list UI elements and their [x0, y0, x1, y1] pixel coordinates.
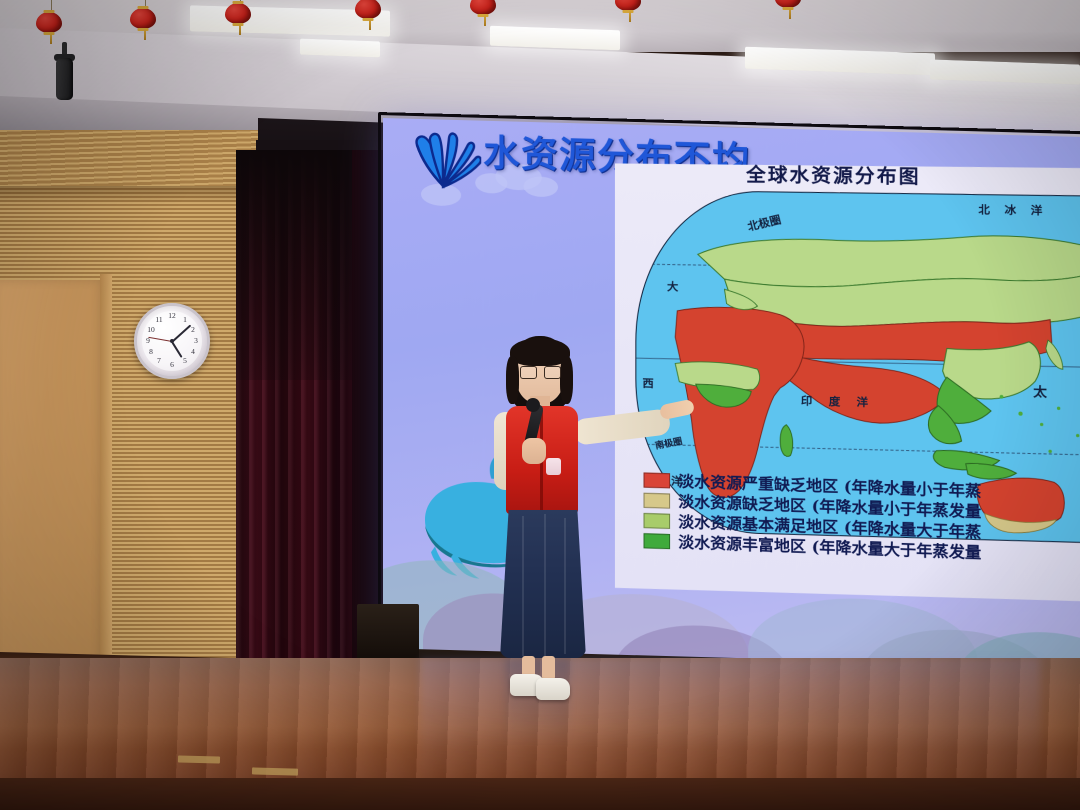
glasses — [520, 366, 560, 377]
glasses-lens-left — [520, 366, 537, 379]
map-label: 北 冰 洋 — [978, 201, 1047, 218]
lantern — [225, 3, 255, 24]
clock-numeral: 3 — [191, 336, 201, 346]
lantern — [775, 0, 805, 8]
floor-marker — [178, 755, 220, 763]
map-label: 大 — [667, 278, 678, 294]
stage-spotlight — [54, 42, 76, 102]
pointing-hand — [659, 399, 695, 421]
wall-shadow — [0, 186, 262, 204]
hair-side-right — [560, 356, 573, 404]
map-label: 印 度 洋 — [801, 392, 874, 410]
clock-numeral: 10 — [146, 325, 156, 335]
lantern — [36, 12, 66, 33]
glasses-lens-right — [544, 366, 561, 379]
lantern — [470, 0, 500, 15]
shoe-right — [536, 678, 570, 700]
clock-center-pin — [170, 339, 174, 343]
hair-side-left — [506, 356, 519, 404]
sleeve-right-extended — [573, 408, 671, 446]
clock-numeral: 5 — [180, 356, 190, 366]
door-frame — [100, 274, 112, 666]
holding-hand — [522, 438, 546, 464]
skirt — [500, 510, 586, 658]
clock-numeral: 7 — [154, 356, 164, 366]
leg-right — [542, 656, 555, 680]
floor-front-strip — [0, 778, 1080, 810]
lantern — [355, 0, 385, 19]
map-label: 太 — [1033, 381, 1047, 401]
vest-badge — [546, 458, 561, 475]
lantern — [615, 0, 645, 11]
clock-numeral: 11 — [154, 315, 164, 325]
clock-numeral: 6 — [167, 360, 177, 370]
auditorium-photo: 12 1 2 3 4 5 6 7 8 9 10 11 — [0, 0, 1080, 810]
cloud-decoration — [524, 176, 558, 197]
ceiling-light-panel — [300, 39, 380, 58]
clock-numeral: 1 — [180, 315, 190, 325]
clock-numeral: 8 — [146, 347, 156, 357]
shell-icon — [405, 125, 481, 191]
microphone-head — [526, 398, 540, 412]
map-heading: 全球水资源分布图 — [746, 160, 921, 190]
side-door[interactable] — [0, 280, 111, 666]
wall-clock: 12 1 2 3 4 5 6 7 8 9 10 11 — [134, 303, 210, 379]
lantern — [130, 8, 160, 29]
wall-slats-upper — [0, 130, 258, 194]
presenter — [470, 330, 720, 720]
floor-marker — [252, 767, 298, 775]
clock-numeral: 12 — [167, 311, 177, 321]
stage-speaker — [357, 604, 419, 662]
